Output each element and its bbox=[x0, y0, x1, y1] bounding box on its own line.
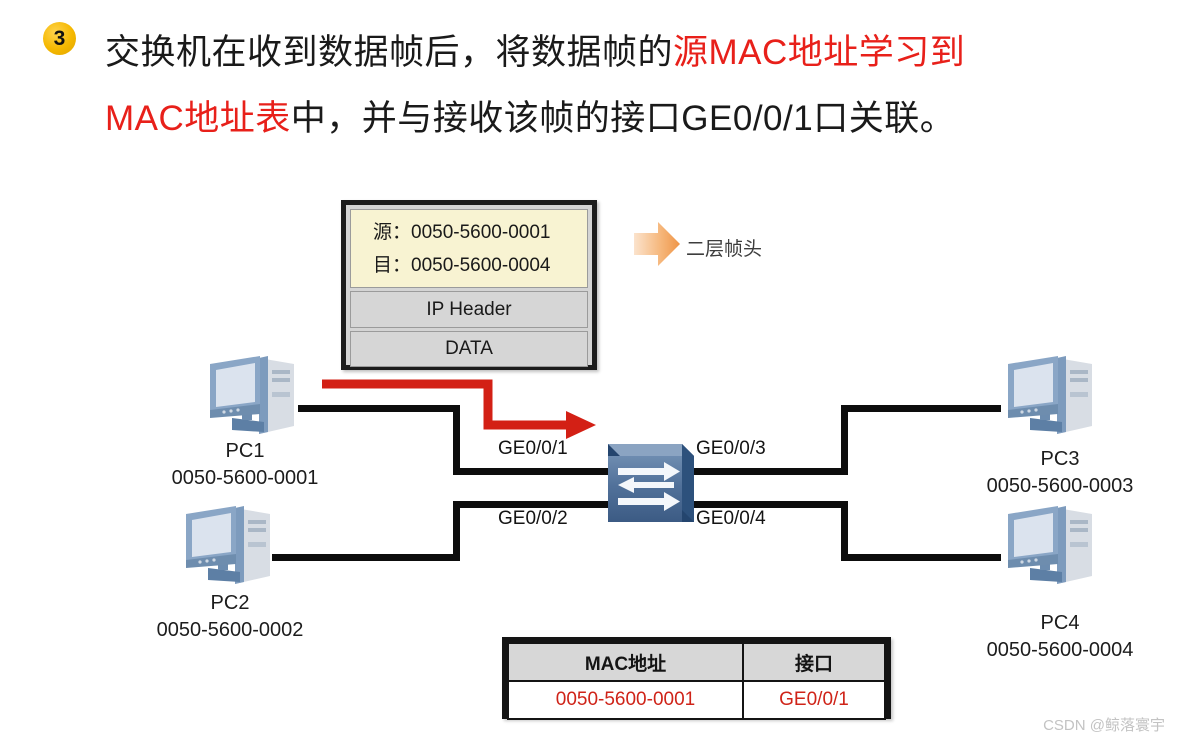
host-icon-pc3 bbox=[1000, 352, 1104, 442]
heading-line1-highlight: 源MAC地址学习到 bbox=[673, 33, 965, 72]
host-label-pc2: PC2 0050-5600-0002 bbox=[105, 590, 355, 644]
frame-dest-mac: 目：0050-5600-0004 bbox=[373, 249, 550, 282]
frame-flow-arrow bbox=[318, 373, 603, 443]
frame-l2-header-row: 源：0050-5600-0001 目：0050-5600-0004 bbox=[350, 209, 588, 288]
cell-interface: GE0/0/1 bbox=[743, 681, 885, 719]
cell-mac-address: 0050-5600-0001 bbox=[508, 681, 743, 719]
callout-label: 二层帧头 bbox=[686, 234, 762, 261]
cable-pc3-horizontal-upper bbox=[841, 405, 1001, 412]
host-label-pc1: PC1 0050-5600-0001 bbox=[120, 438, 370, 492]
cable-pc4-vertical bbox=[841, 501, 848, 561]
host-mac-pc3: 0050-5600-0003 bbox=[935, 473, 1177, 500]
heading-line-1: 交换机在收到数据帧后，将数据帧的源MAC地址学习到 bbox=[105, 20, 1055, 86]
host-mac-pc2: 0050-5600-0002 bbox=[105, 617, 355, 644]
column-header-mac: MAC地址 bbox=[508, 643, 743, 681]
host-mac-pc4: 0050-5600-0004 bbox=[935, 637, 1177, 664]
frame-structure-box: 源：0050-5600-0001 目：0050-5600-0004 IP Hea… bbox=[341, 200, 597, 370]
host-name-pc2: PC2 bbox=[105, 590, 355, 617]
port-label-ge0-0-1: GE0/0/1 bbox=[498, 438, 568, 460]
heading-line2-plain: 中，并与接收该帧的接口GE0/0/1口关联。 bbox=[291, 99, 955, 138]
frame-source-mac: 源：0050-5600-0001 bbox=[373, 216, 550, 249]
port-label-ge0-0-3: GE0/0/3 bbox=[696, 438, 766, 460]
cable-pc2-horizontal-lower bbox=[272, 554, 460, 561]
host-label-pc4: PC4 0050-5600-0004 bbox=[935, 610, 1177, 664]
table-header-row: MAC地址 接口 bbox=[508, 643, 885, 681]
host-name-pc4: PC4 bbox=[935, 610, 1177, 637]
cable-pc2-vertical bbox=[453, 501, 460, 561]
table-row: 0050-5600-0001 GE0/0/1 bbox=[508, 681, 885, 719]
watermark: CSDN @鲸落寰宇 bbox=[1043, 714, 1165, 735]
host-name-pc3: PC3 bbox=[935, 446, 1177, 473]
switch-icon bbox=[596, 436, 696, 530]
host-icon-pc2 bbox=[178, 502, 282, 592]
cable-pc4-horizontal-upper bbox=[684, 501, 848, 508]
host-label-pc3: PC3 0050-5600-0003 bbox=[935, 446, 1177, 500]
cable-pc4-horizontal-lower bbox=[841, 554, 1001, 561]
host-icon-pc1 bbox=[202, 352, 306, 442]
heading-line2-highlight: MAC地址表 bbox=[105, 99, 291, 138]
cable-pc3-vertical bbox=[841, 405, 848, 475]
host-icon-pc4 bbox=[1000, 502, 1104, 592]
frame-data-row: DATA bbox=[350, 331, 588, 367]
port-label-ge0-0-4: GE0/0/4 bbox=[696, 508, 766, 530]
host-name-pc1: PC1 bbox=[120, 438, 370, 465]
host-mac-pc1: 0050-5600-0001 bbox=[120, 465, 370, 492]
cable-pc1-horizontal-lower bbox=[453, 468, 608, 475]
slide-canvas: 3 交换机在收到数据帧后，将数据帧的源MAC地址学习到 MAC地址表中，并与接收… bbox=[0, 0, 1177, 749]
port-label-ge0-0-2: GE0/0/2 bbox=[498, 508, 568, 530]
frame-ip-header-row: IP Header bbox=[350, 291, 588, 328]
heading-line-2: MAC地址表中，并与接收该帧的接口GE0/0/1口关联。 bbox=[105, 86, 1055, 152]
column-header-interface: 接口 bbox=[743, 643, 885, 681]
mac-address-table: MAC地址 接口 0050-5600-0001 GE0/0/1 bbox=[502, 637, 891, 719]
page-title: 交换机在收到数据帧后，将数据帧的源MAC地址学习到 MAC地址表中，并与接收该帧… bbox=[105, 20, 1055, 152]
step-number-badge: 3 bbox=[43, 22, 76, 55]
cable-pc2-horizontal-upper bbox=[453, 501, 608, 508]
callout-arrow-icon bbox=[632, 220, 682, 268]
cable-pc3-horizontal-lower bbox=[684, 468, 848, 475]
heading-line1-plain: 交换机在收到数据帧后，将数据帧的 bbox=[105, 33, 673, 72]
